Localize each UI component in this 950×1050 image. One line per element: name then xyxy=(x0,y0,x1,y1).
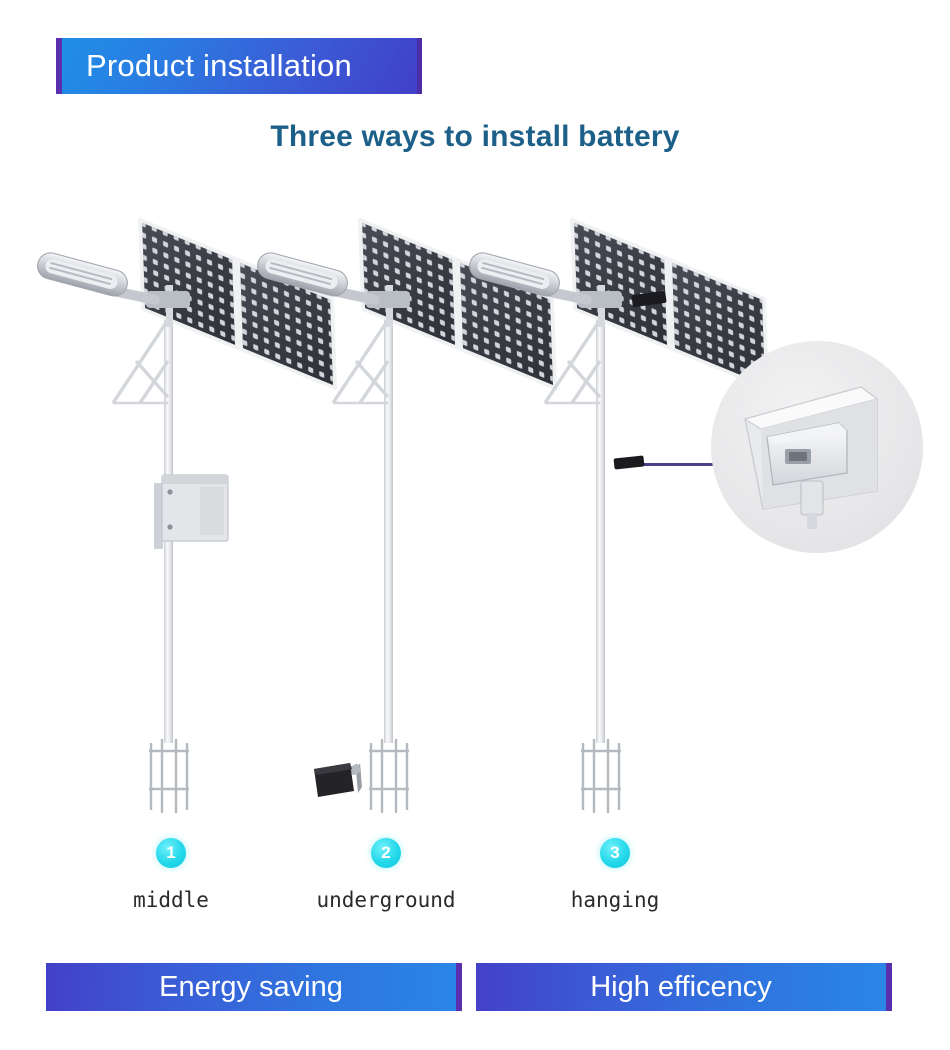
option-caption-hanging: hanging xyxy=(525,888,705,912)
lamp-head xyxy=(467,250,563,299)
battery-box-underground xyxy=(314,763,362,797)
battery-box-middle xyxy=(154,475,228,549)
foundation-cage xyxy=(149,739,189,813)
foundation-cage xyxy=(581,739,621,813)
product-installation-infographic: Product installation Three ways to insta… xyxy=(0,0,950,1050)
step-badge-3: 3 xyxy=(600,838,630,868)
pole xyxy=(384,313,393,743)
header-banner: Product installation xyxy=(56,38,422,94)
footer-banner-energy-saving: Energy saving xyxy=(46,963,462,1011)
support-brace xyxy=(113,320,168,403)
lamp-head xyxy=(35,250,131,299)
footer-banner-right-label: High efficency xyxy=(590,971,772,1004)
header-banner-label: Product installation xyxy=(86,48,352,84)
inset-artwork xyxy=(711,341,923,553)
footer-banner-left-label: Energy saving xyxy=(159,971,343,1004)
lamp-head xyxy=(255,250,351,299)
option-caption-underground: underground xyxy=(296,888,476,912)
step-badge-1: 1 xyxy=(156,838,186,868)
pole xyxy=(596,313,605,743)
hanging-battery-detail-inset xyxy=(711,341,923,553)
support-brace xyxy=(545,320,600,403)
option-caption-middle: middle xyxy=(81,888,261,912)
support-brace xyxy=(333,320,388,403)
mounting-post xyxy=(801,481,823,529)
step-badge-2: 2 xyxy=(371,838,401,868)
footer-banner-high-efficiency: High efficency xyxy=(476,963,892,1011)
installation-illustration xyxy=(0,165,950,825)
page-subtitle: Three ways to install battery xyxy=(0,120,950,154)
foundation-cage xyxy=(369,739,409,813)
